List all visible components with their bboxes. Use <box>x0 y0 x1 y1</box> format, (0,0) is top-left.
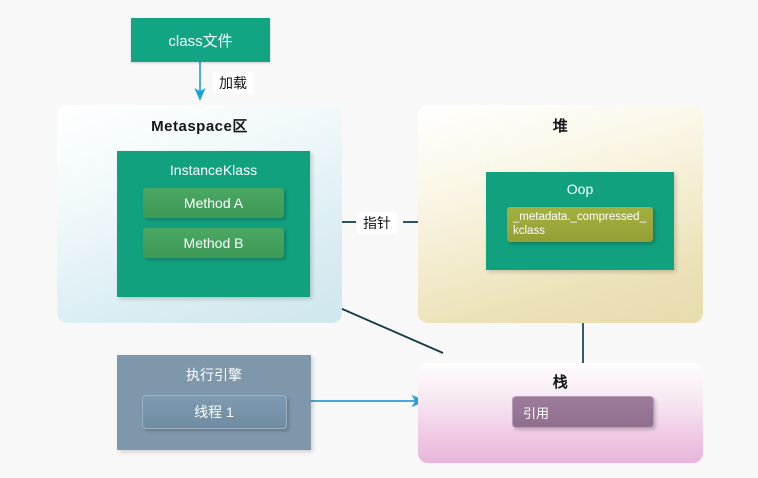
edge-label-load: 加载 <box>213 72 253 94</box>
execution-engine-label: 执行引擎 <box>117 365 311 385</box>
thread-1-label: 线程 1 <box>194 402 234 422</box>
class-file-label: class文件 <box>168 30 232 51</box>
execution-engine-node[interactable]: 执行引擎 线程 1 <box>117 355 311 450</box>
method-a-node[interactable]: Method A <box>143 188 284 218</box>
method-a-label: Method A <box>184 195 243 211</box>
thread-1-node[interactable]: 线程 1 <box>142 395 287 429</box>
diagram-canvas: class文件 Metaspace区 InstanceKlass Method … <box>0 0 758 478</box>
heap-title: 堆 <box>418 115 703 136</box>
instanceklass-label: InstanceKlass <box>117 162 310 178</box>
metaspace-title: Metaspace区 <box>57 115 342 136</box>
stack-title: 栈 <box>418 371 703 392</box>
class-file-node[interactable]: class文件 <box>131 18 270 62</box>
method-b-label: Method B <box>184 235 244 251</box>
oop-label: Oop <box>486 181 674 197</box>
edge-label-pointer: 指针 <box>357 212 397 234</box>
method-b-node[interactable]: Method B <box>143 228 284 258</box>
instanceklass-node[interactable]: InstanceKlass Method A Method B <box>117 151 310 297</box>
oop-node[interactable]: Oop _metadata._compressed_kclass <box>486 172 674 270</box>
reference-node[interactable]: 引用 <box>512 396 654 428</box>
reference-label: 引用 <box>523 403 549 422</box>
metadata-label: _metadata._compressed_kclass <box>513 211 646 237</box>
metadata-compressed-kclass-node[interactable]: _metadata._compressed_kclass <box>507 207 653 242</box>
